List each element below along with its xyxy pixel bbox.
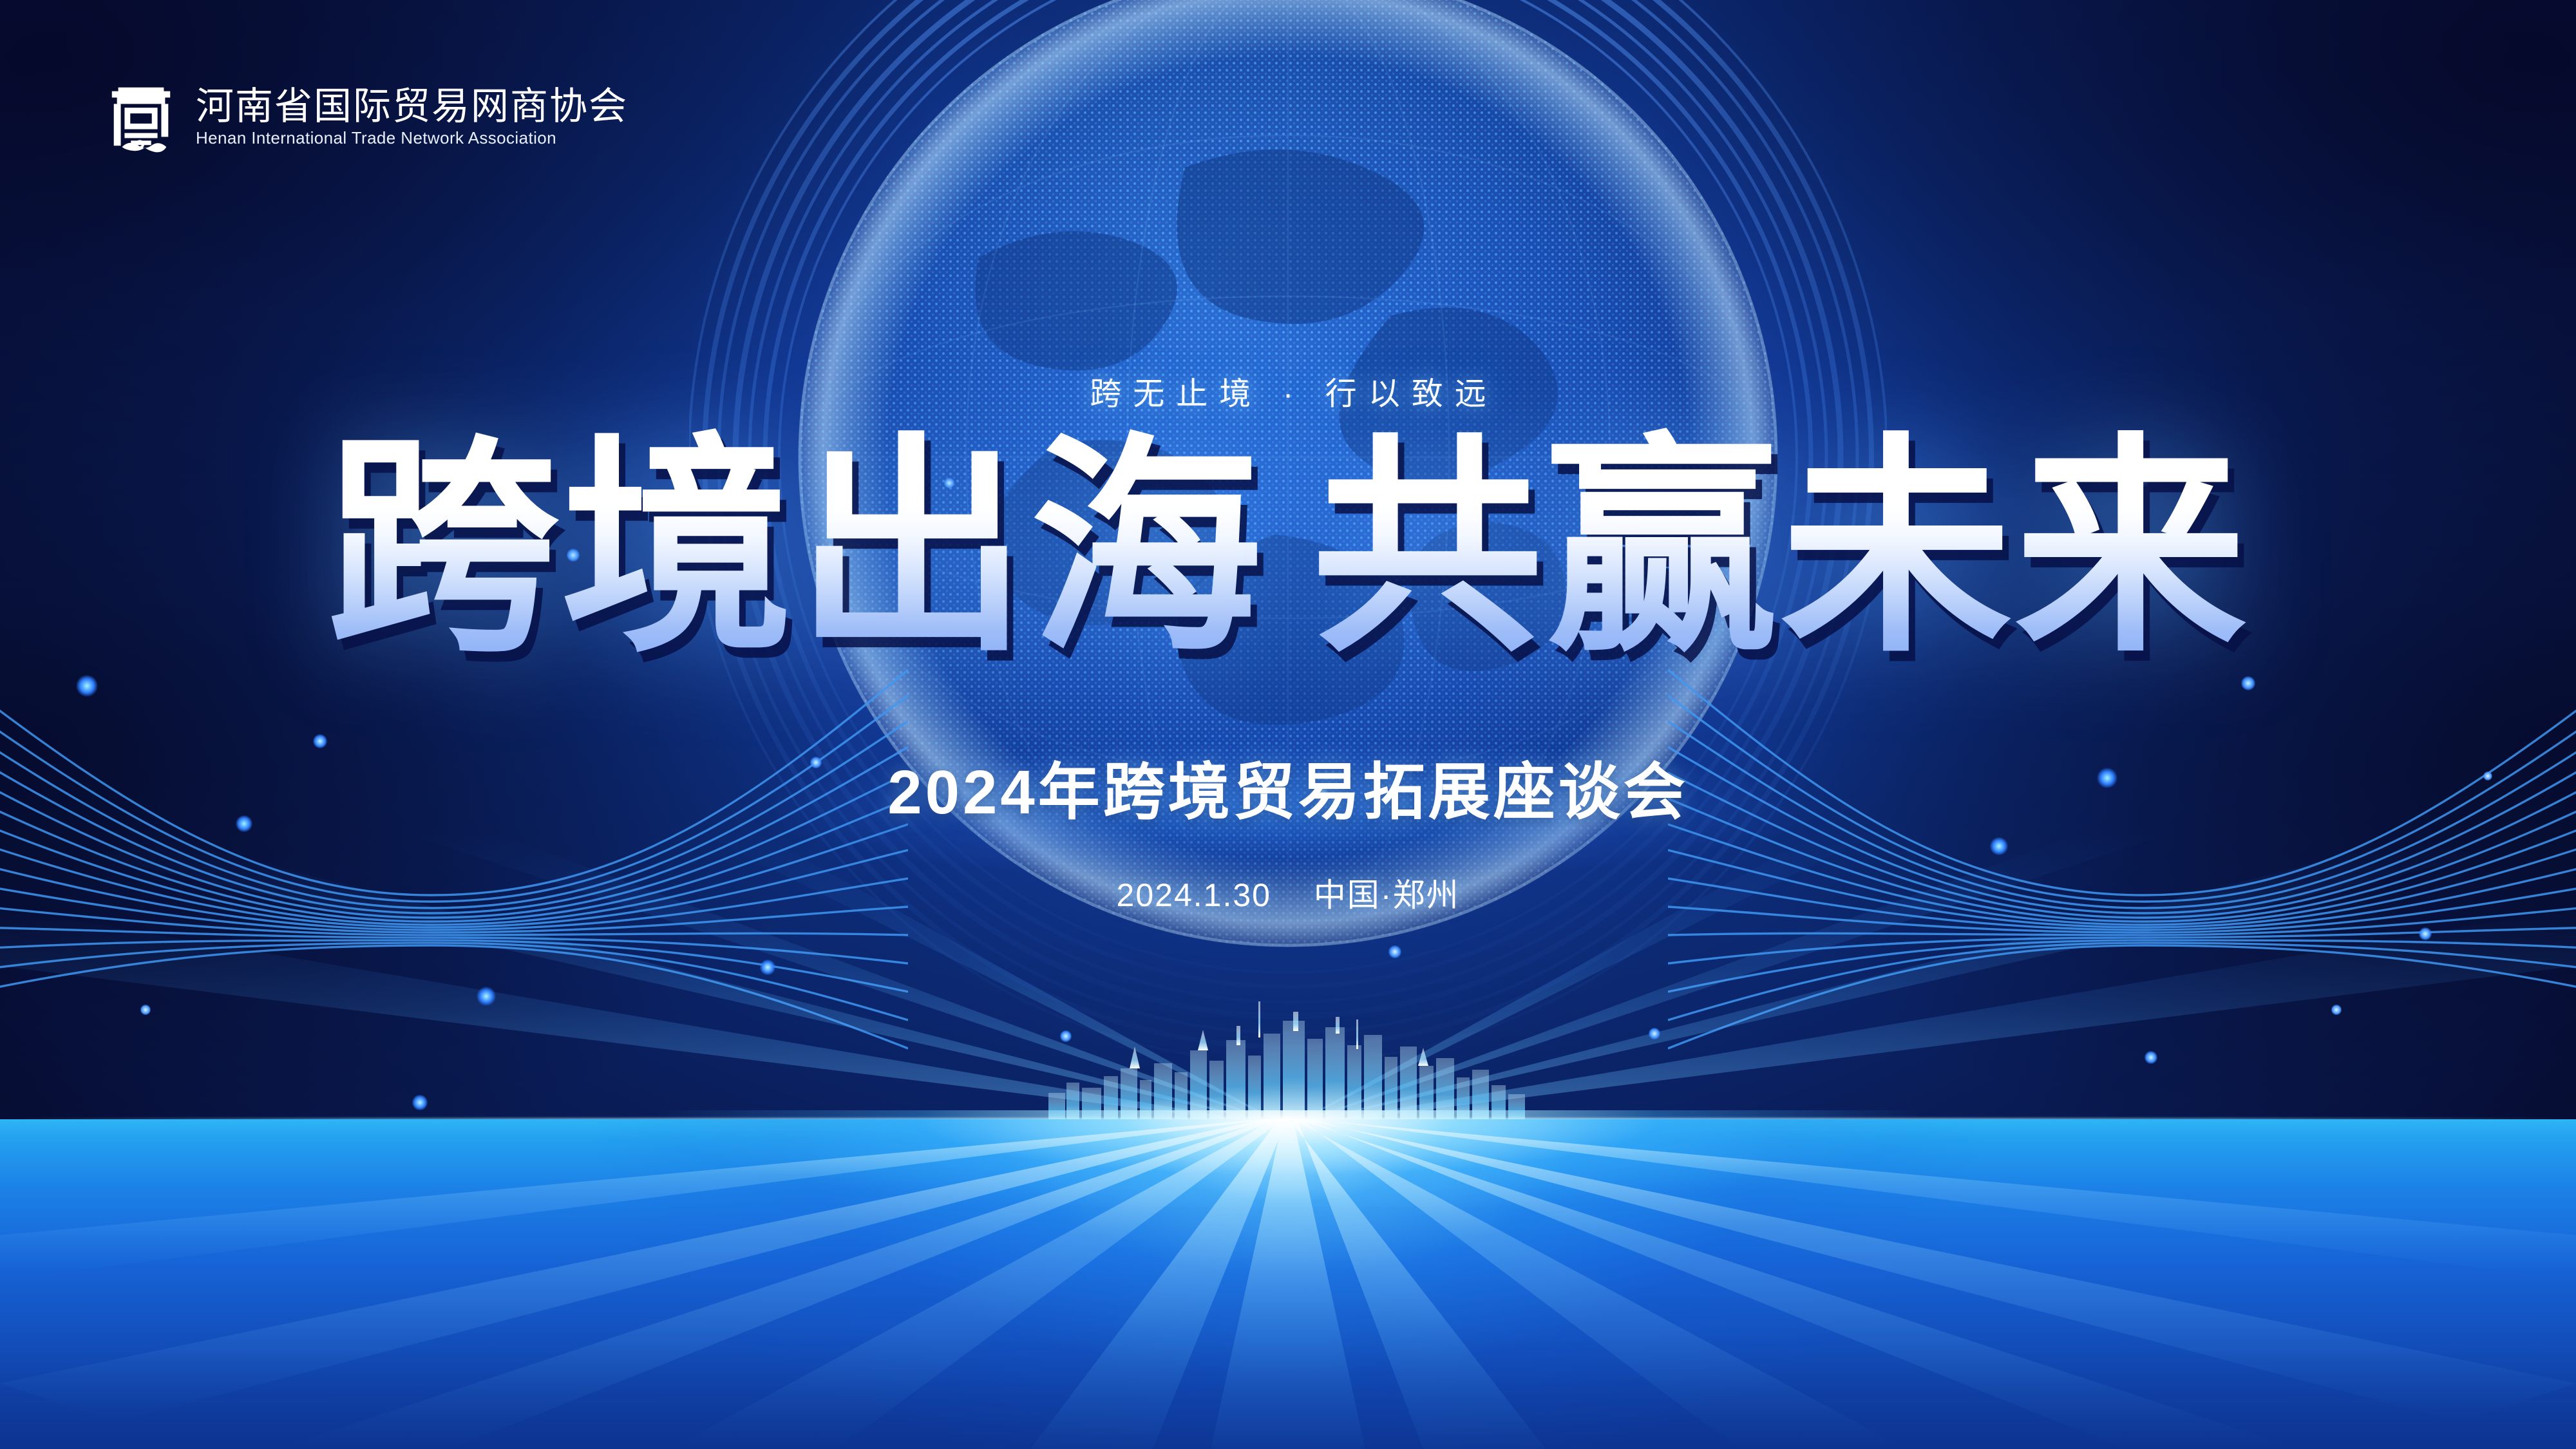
event-location: 中国·郑州 [1314, 877, 1460, 913]
tagline: 跨无止境 · 行以致远 [0, 368, 2576, 414]
seal-script-emblem-icon [103, 79, 179, 155]
poster-content: 河南省国际贸易网商协会 Henan International Trade Ne… [0, 0, 2576, 1449]
logo-name-en: Henan International Trade Network Associ… [196, 129, 628, 146]
event-poster: 河南省国际贸易网商协会 Henan International Trade Ne… [0, 0, 2576, 1449]
headline-part-1: 跨境出海 [327, 419, 1265, 678]
headline-inner: 跨境出海 共赢未来 [327, 433, 2249, 665]
event-subtitle: 2024年跨境贸易拓展座谈会 [0, 742, 2576, 831]
headline-part-2: 共赢未来 [1311, 419, 2249, 678]
event-date: 2024.1.30 [1117, 877, 1271, 913]
headline: 跨境出海 共赢未来 [0, 433, 2576, 665]
logo-name-cn: 河南省国际贸易网商协会 [196, 88, 628, 126]
event-datebar: 2024.1.30 中国·郑州 [0, 869, 2576, 916]
organization-logo[interactable]: 河南省国际贸易网商协会 Henan International Trade Ne… [103, 79, 628, 155]
logo-text-block: 河南省国际贸易网商协会 Henan International Trade Ne… [196, 88, 628, 146]
